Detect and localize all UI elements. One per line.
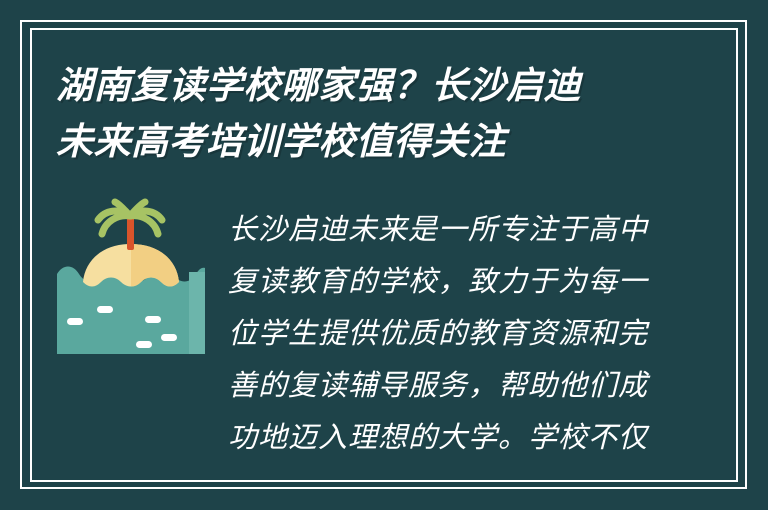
island-palm-tree-svg xyxy=(57,196,205,354)
body-paragraph: 长沙启迪未来是一所专注于高中 复读教育的学校，致力于为每一 位学生提供优质的教育… xyxy=(228,203,654,463)
title-line-1: 湖南复读学校哪家强？长沙启迪 xyxy=(56,58,676,114)
body-line-3: 位学生提供优质的教育资源和完 xyxy=(228,307,654,359)
palm-trunk xyxy=(127,216,134,250)
water-highlight-strip xyxy=(189,272,205,354)
page-title: 湖南复读学校哪家强？长沙启迪 未来高考培训学校值得关注 xyxy=(56,58,676,170)
body-line-4: 善的复读辅导服务，帮助他们成 xyxy=(228,359,654,411)
poster-canvas: 湖南复读学校哪家强？长沙启迪 未来高考培训学校值得关注 xyxy=(0,0,768,510)
body-line-2: 复读教育的学校，致力于为每一 xyxy=(228,255,654,307)
body-line-5: 功地迈入理想的大学。学校不仅 xyxy=(228,411,654,463)
body-line-1: 长沙启迪未来是一所专注于高中 xyxy=(228,203,654,255)
island-palm-tree-illustration xyxy=(57,196,205,354)
title-line-2: 未来高考培训学校值得关注 xyxy=(56,114,676,170)
